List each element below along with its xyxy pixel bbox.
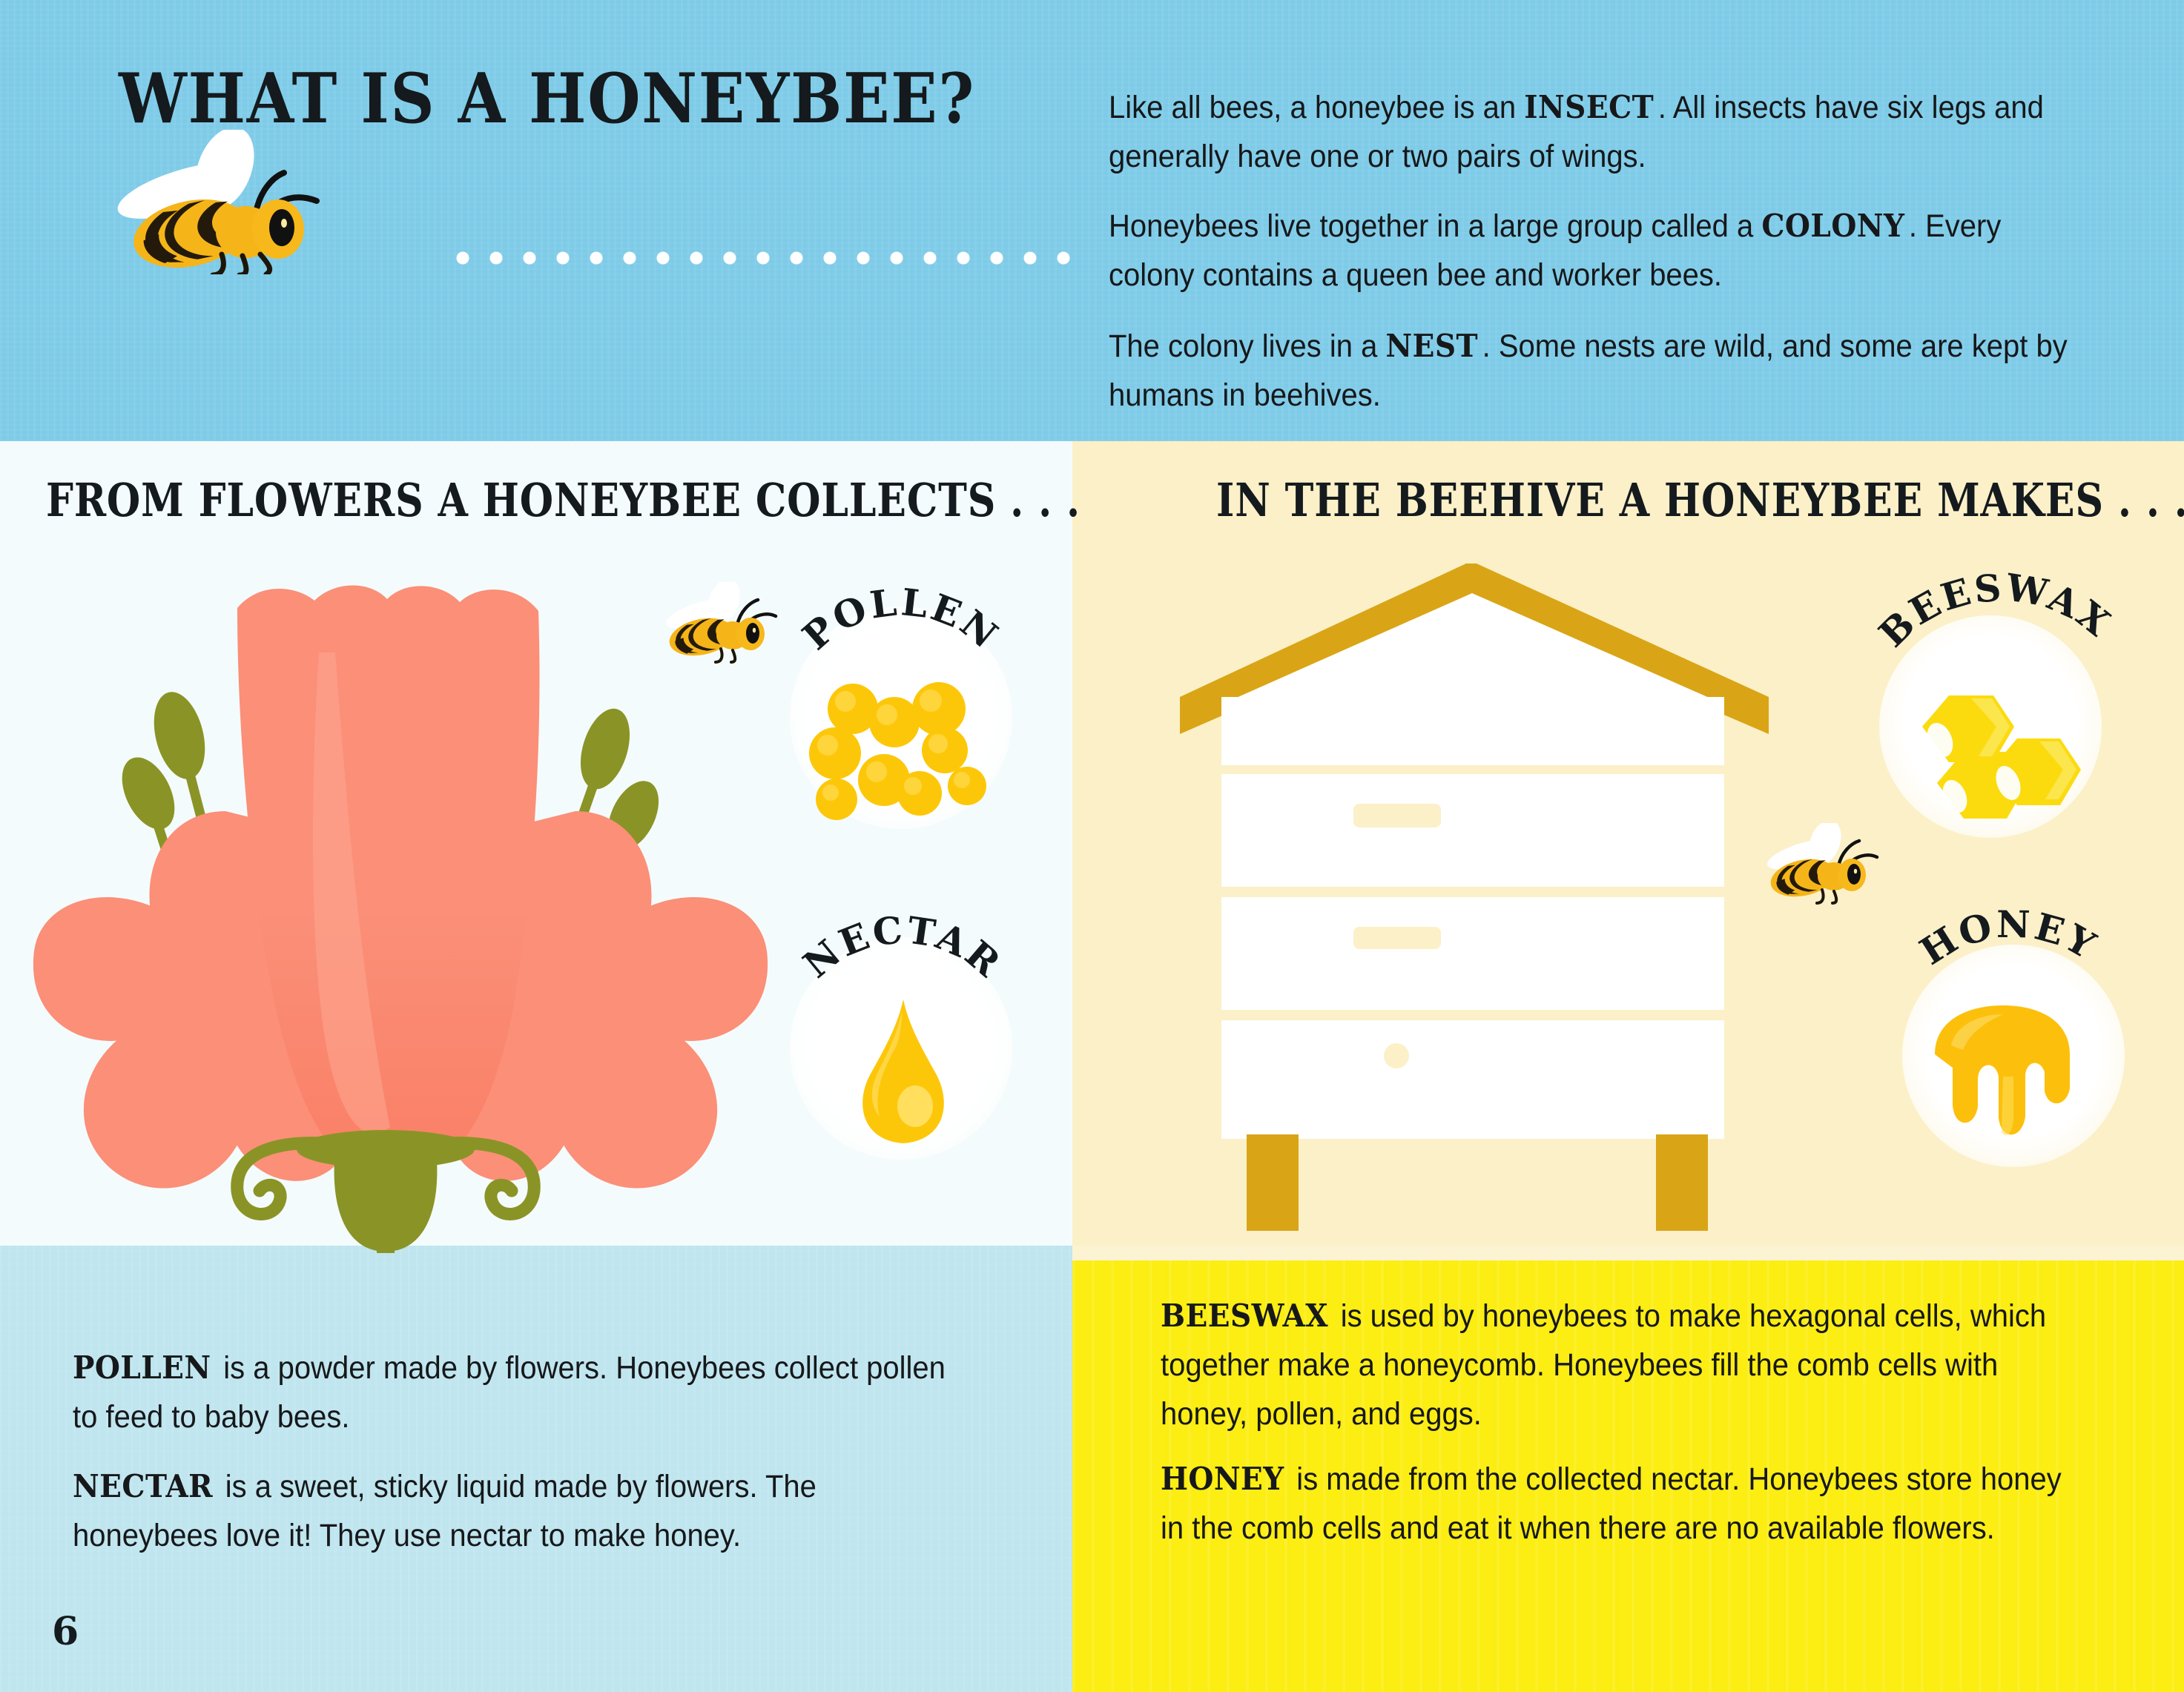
badge-honey: HONEY bbox=[1887, 912, 2147, 1168]
book-page-spread: WHAT IS A HONEYBEE? bbox=[0, 0, 2184, 1692]
svg-text:NECTAR: NECTAR bbox=[795, 908, 1010, 986]
term-honey: HONEY bbox=[1161, 1461, 1284, 1497]
left-section-heading: FROM FLOWERS A HONEYBEE COLLECTS . . . bbox=[46, 473, 1081, 527]
honey-drip-icon bbox=[1921, 1005, 2092, 1161]
badge-pollen: POLLEN bbox=[779, 586, 1023, 830]
intro-paragraph-1: Like all bees, a honeybee is an INSECT. … bbox=[1109, 83, 2074, 181]
definition-nectar: NECTAR is a sweet, sticky liquid made by… bbox=[73, 1462, 963, 1560]
term-pollen: POLLEN bbox=[73, 1349, 211, 1386]
intro-p3-pre: The colony lives in a bbox=[1109, 328, 1385, 364]
flying-honeybee-icon bbox=[653, 582, 779, 664]
definition-beeswax: BEESWAX is used by honeybees to make hex… bbox=[1161, 1292, 2078, 1438]
dotted-flight-path bbox=[454, 249, 1071, 267]
intro-paragraph-3: The colony lives in a NEST. Some nests a… bbox=[1109, 322, 2074, 420]
term-colony: COLONY bbox=[1761, 208, 1904, 244]
right-panel-seam bbox=[1072, 1246, 2184, 1262]
stacked-beehive-icon bbox=[1175, 549, 1843, 1231]
intro-p2-pre: Honeybees live together in a large group… bbox=[1109, 208, 1761, 244]
pollen-grains-icon bbox=[807, 673, 1000, 822]
nectar-drop-icon bbox=[844, 995, 963, 1158]
intro-p1-pre: Like all bees, a honeybee is an bbox=[1109, 90, 1524, 125]
pollen-label: POLLEN bbox=[794, 580, 1008, 658]
term-nest: NEST bbox=[1385, 328, 1478, 364]
term-beeswax: BEESWAX bbox=[1161, 1298, 1328, 1334]
honey-label: HONEY bbox=[1912, 902, 2104, 974]
page-title: WHAT IS A HONEYBEE? bbox=[119, 58, 975, 139]
term-nectar: NECTAR bbox=[73, 1468, 213, 1504]
svg-text:HONEY: HONEY bbox=[1912, 902, 2104, 974]
definition-honey-text: is made from the collected nectar. Honey… bbox=[1161, 1461, 2062, 1546]
page-number: 6 bbox=[52, 1609, 79, 1654]
definition-honey: HONEY is made from the collected nectar.… bbox=[1161, 1455, 2078, 1553]
flying-honeybee-icon bbox=[100, 130, 337, 274]
badge-beeswax: BEESWAX bbox=[1861, 586, 2143, 842]
intro-paragraph-2: Honeybees live together in a large group… bbox=[1109, 202, 2074, 300]
cutaway-flower-icon bbox=[15, 564, 786, 1253]
term-insect: INSECT bbox=[1524, 89, 1654, 125]
hexagon-cells-icon bbox=[1900, 682, 2085, 838]
right-section-heading: IN THE BEEHIVE A HONEYBEE MAKES . . . bbox=[1216, 473, 2184, 527]
svg-text:POLLEN: POLLEN bbox=[794, 580, 1008, 658]
nectar-label: NECTAR bbox=[795, 908, 1010, 986]
definition-pollen: POLLEN is a powder made by flowers. Hone… bbox=[73, 1344, 963, 1441]
badge-nectar: NECTAR bbox=[779, 912, 1023, 1164]
